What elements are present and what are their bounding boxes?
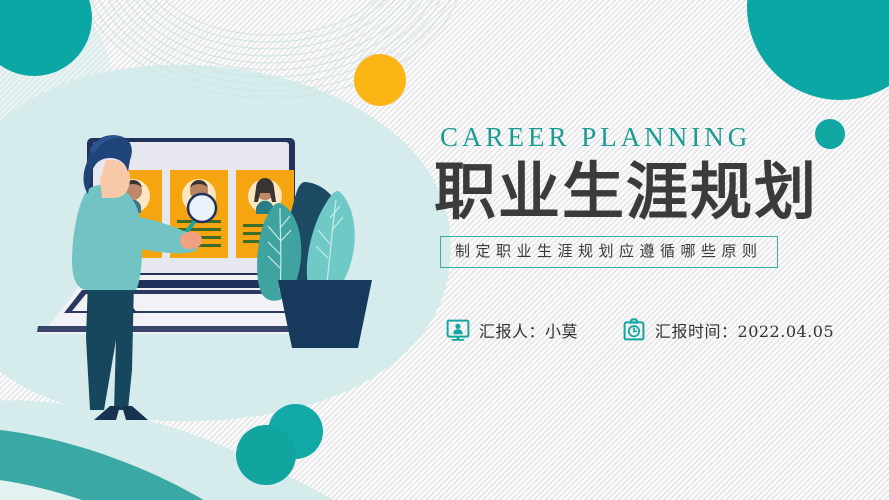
recruiter-illustration	[30, 120, 420, 420]
arc-lines-decoration	[60, 0, 480, 110]
title-block: CAREER PLANNING 职业生涯规划 制定职业生涯规划应遵循哪些原则 汇…	[428, 124, 858, 342]
presenter-monitor-icon	[446, 318, 470, 342]
subtitle-text: 制定职业生涯规划应遵循哪些原则	[455, 242, 763, 260]
page-title: 职业生涯规划	[434, 159, 858, 226]
meta-presenter: 汇报人：小莫	[446, 318, 578, 342]
meta-row: 汇报人：小莫 汇报时间：2022.04.05	[446, 318, 858, 342]
clipboard-clock-icon	[622, 318, 646, 342]
circle-yellow-decoration	[354, 54, 406, 106]
meta-datetime: 汇报时间：2022.04.05	[622, 318, 834, 342]
presenter-label: 汇报人：小莫	[479, 318, 578, 342]
slide-canvas: CAREER PLANNING 职业生涯规划 制定职业生涯规划应遵循哪些原则 汇…	[0, 0, 889, 500]
datetime-label: 汇报时间：2022.04.05	[655, 318, 834, 342]
eyebrow-label: CAREER PLANNING	[440, 124, 858, 151]
subtitle-box: 制定职业生涯规划应遵循哪些原则	[440, 236, 778, 268]
